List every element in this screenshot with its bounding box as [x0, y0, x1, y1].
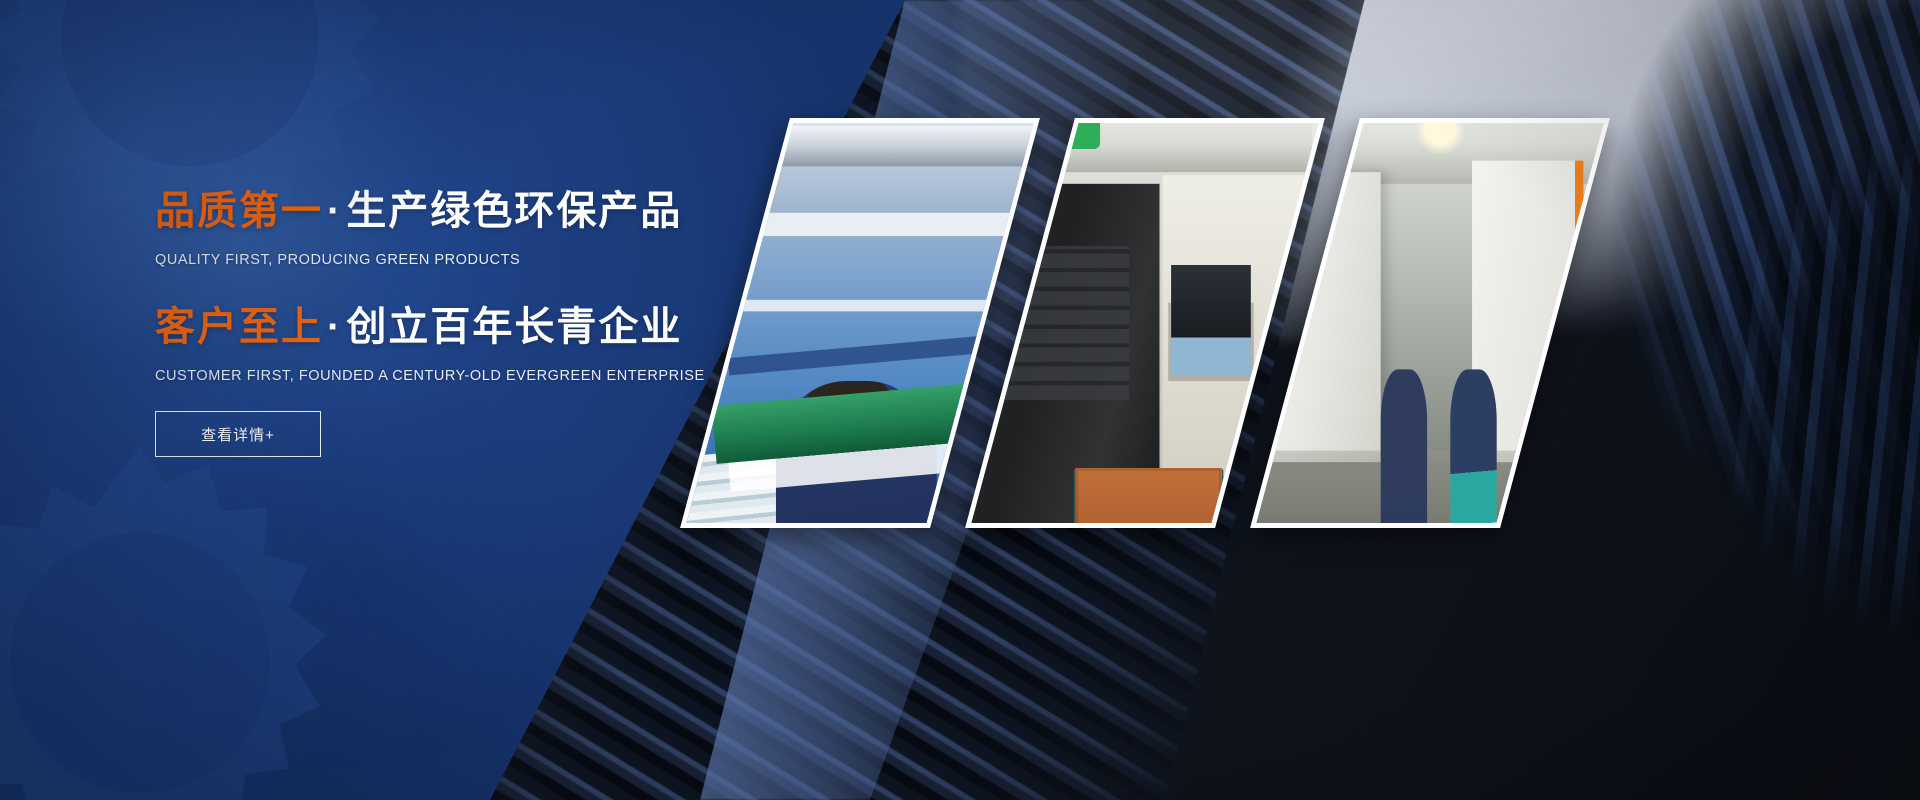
copy-spacer: [155, 268, 775, 302]
headline-1-separator: ·: [323, 189, 346, 233]
subtitle-2: CUSTOMER FIRST, FOUNDED A CENTURY-OLD EV…: [155, 368, 775, 384]
worker-figure-right: [1451, 369, 1496, 523]
headline-1-accent: 品质第一: [155, 189, 323, 233]
photo-card-3-frame: [1256, 123, 1603, 523]
worker-figure: [776, 381, 936, 523]
ceiling-lamp-icon: [1416, 123, 1465, 155]
work-table: [1075, 468, 1221, 523]
headline-2-rest: 创立百年长青企业: [346, 305, 682, 349]
photo-workshop-aisle: [1256, 123, 1603, 523]
worker-figure-left: [1381, 369, 1426, 523]
view-details-button[interactable]: 查看详情+: [155, 411, 321, 457]
headline-2: 客户至上·创立百年长青企业: [155, 302, 775, 352]
subtitle-1: QUALITY FIRST, PRODUCING GREEN PRODUCTS: [155, 252, 775, 268]
workshop-floor: [1256, 451, 1603, 523]
headline-2-accent: 客户至上: [155, 305, 323, 349]
headline-1: 品质第一·生产绿色环保产品: [155, 186, 775, 236]
andon-lamp-icon: [1055, 123, 1100, 149]
headline-1-rest: 生产绿色环保产品: [346, 189, 682, 233]
hero-copy: 品质第一·生产绿色环保产品 QUALITY FIRST, PRODUCING G…: [155, 186, 775, 384]
headline-2-separator: ·: [323, 305, 346, 349]
photo-strip: [640, 0, 1650, 800]
hero-banner: 品质第一·生产绿色环保产品 QUALITY FIRST, PRODUCING G…: [0, 0, 1920, 800]
